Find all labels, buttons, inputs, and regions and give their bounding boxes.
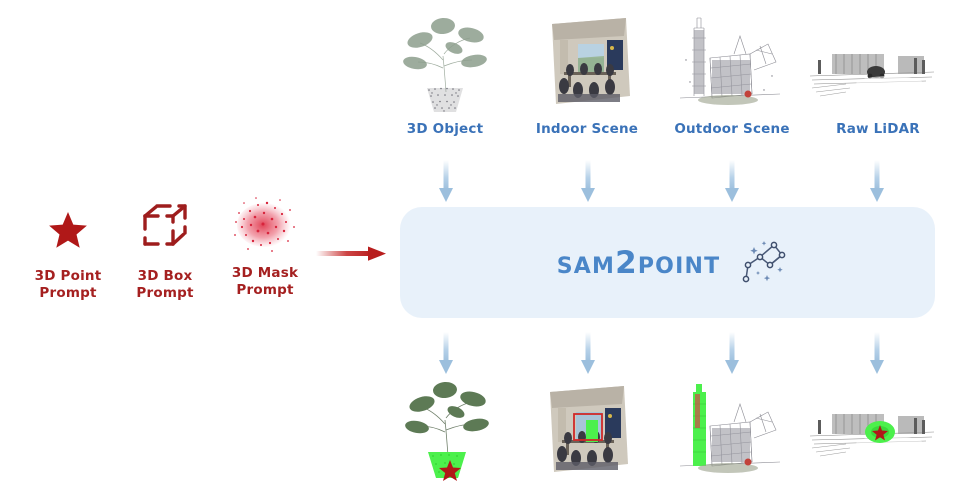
prompt-to-model-arrow-icon bbox=[316, 240, 392, 272]
input-to-model-arrow-icon-2 bbox=[577, 160, 599, 208]
prompt-3d-mask: 3D Mask Prompt bbox=[205, 195, 325, 299]
input-to-model-arrow-icon-1 bbox=[435, 160, 457, 208]
figure-canvas: 3D Point Prompt bbox=[0, 0, 955, 486]
input-to-model-arrow-icon-4 bbox=[866, 160, 888, 208]
model-to-output-arrow-icon-4 bbox=[866, 332, 888, 380]
input-thumb-raw-lidar bbox=[806, 32, 938, 106]
input-thumb-outdoor-scene bbox=[676, 10, 784, 114]
point-cloud-blob-icon bbox=[205, 195, 325, 257]
output-thumb-lidar-segmented bbox=[806, 392, 938, 466]
output-thumb-3d-object-segmented bbox=[400, 378, 496, 482]
input-thumb-indoor-scene bbox=[544, 10, 636, 114]
constellation-icon bbox=[734, 235, 790, 291]
input-label-3d-object: 3D Object bbox=[385, 121, 505, 137]
brand-row: Sam2Point bbox=[557, 235, 791, 291]
model-to-output-arrow-icon-3 bbox=[721, 332, 743, 380]
output-thumb-outdoor-segmented bbox=[676, 378, 784, 482]
prompt-label: 3D Mask Prompt bbox=[205, 265, 325, 299]
input-to-model-arrow-icon-3 bbox=[721, 160, 743, 208]
input-thumb-3d-object bbox=[398, 8, 494, 116]
model-name: Sam2Point bbox=[557, 245, 721, 281]
input-label-raw-lidar: Raw LiDAR bbox=[818, 121, 938, 137]
input-label-outdoor-scene: Outdoor Scene bbox=[672, 121, 792, 137]
output-thumb-indoor-segmented bbox=[542, 378, 634, 482]
input-label-indoor-scene: Indoor Scene bbox=[527, 121, 647, 137]
model-to-output-arrow-icon-1 bbox=[435, 332, 457, 380]
model-to-output-arrow-icon-2 bbox=[577, 332, 599, 380]
model-panel: Sam2Point bbox=[400, 207, 935, 318]
